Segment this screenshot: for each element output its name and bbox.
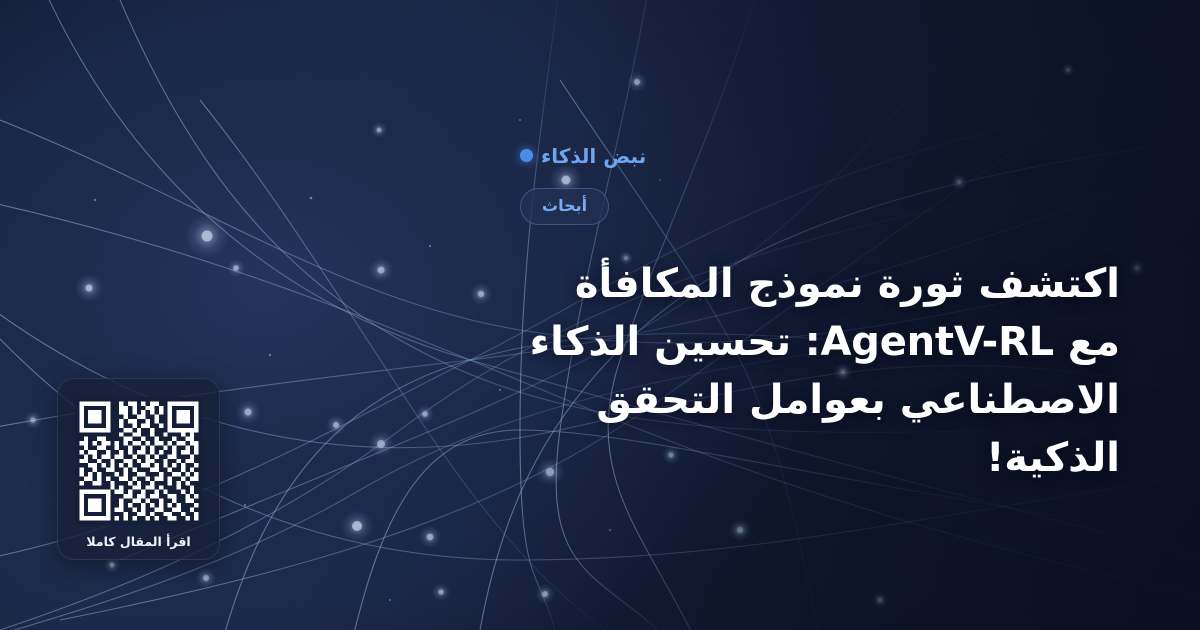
qr-card[interactable]: اقرأ المقال كاملا bbox=[57, 378, 220, 560]
brand: نبض الذكاء bbox=[520, 144, 646, 168]
category-badge[interactable]: أبحاث bbox=[520, 188, 609, 225]
qr-code-icon bbox=[75, 397, 203, 525]
content-column: نبض الذكاء أبحاث اكتشف ثورة نموذج المكاف… bbox=[520, 0, 1140, 630]
page-title: اكتشف ثورة نموذج المكافأة مع AgentV-RL: … bbox=[520, 255, 1120, 487]
brand-dot-icon bbox=[520, 149, 533, 162]
share-card-canvas: نبض الذكاء أبحاث اكتشف ثورة نموذج المكاف… bbox=[0, 0, 1200, 630]
brand-name: نبض الذكاء bbox=[541, 144, 646, 168]
qr-caption: اقرأ المقال كاملا bbox=[86, 534, 190, 549]
